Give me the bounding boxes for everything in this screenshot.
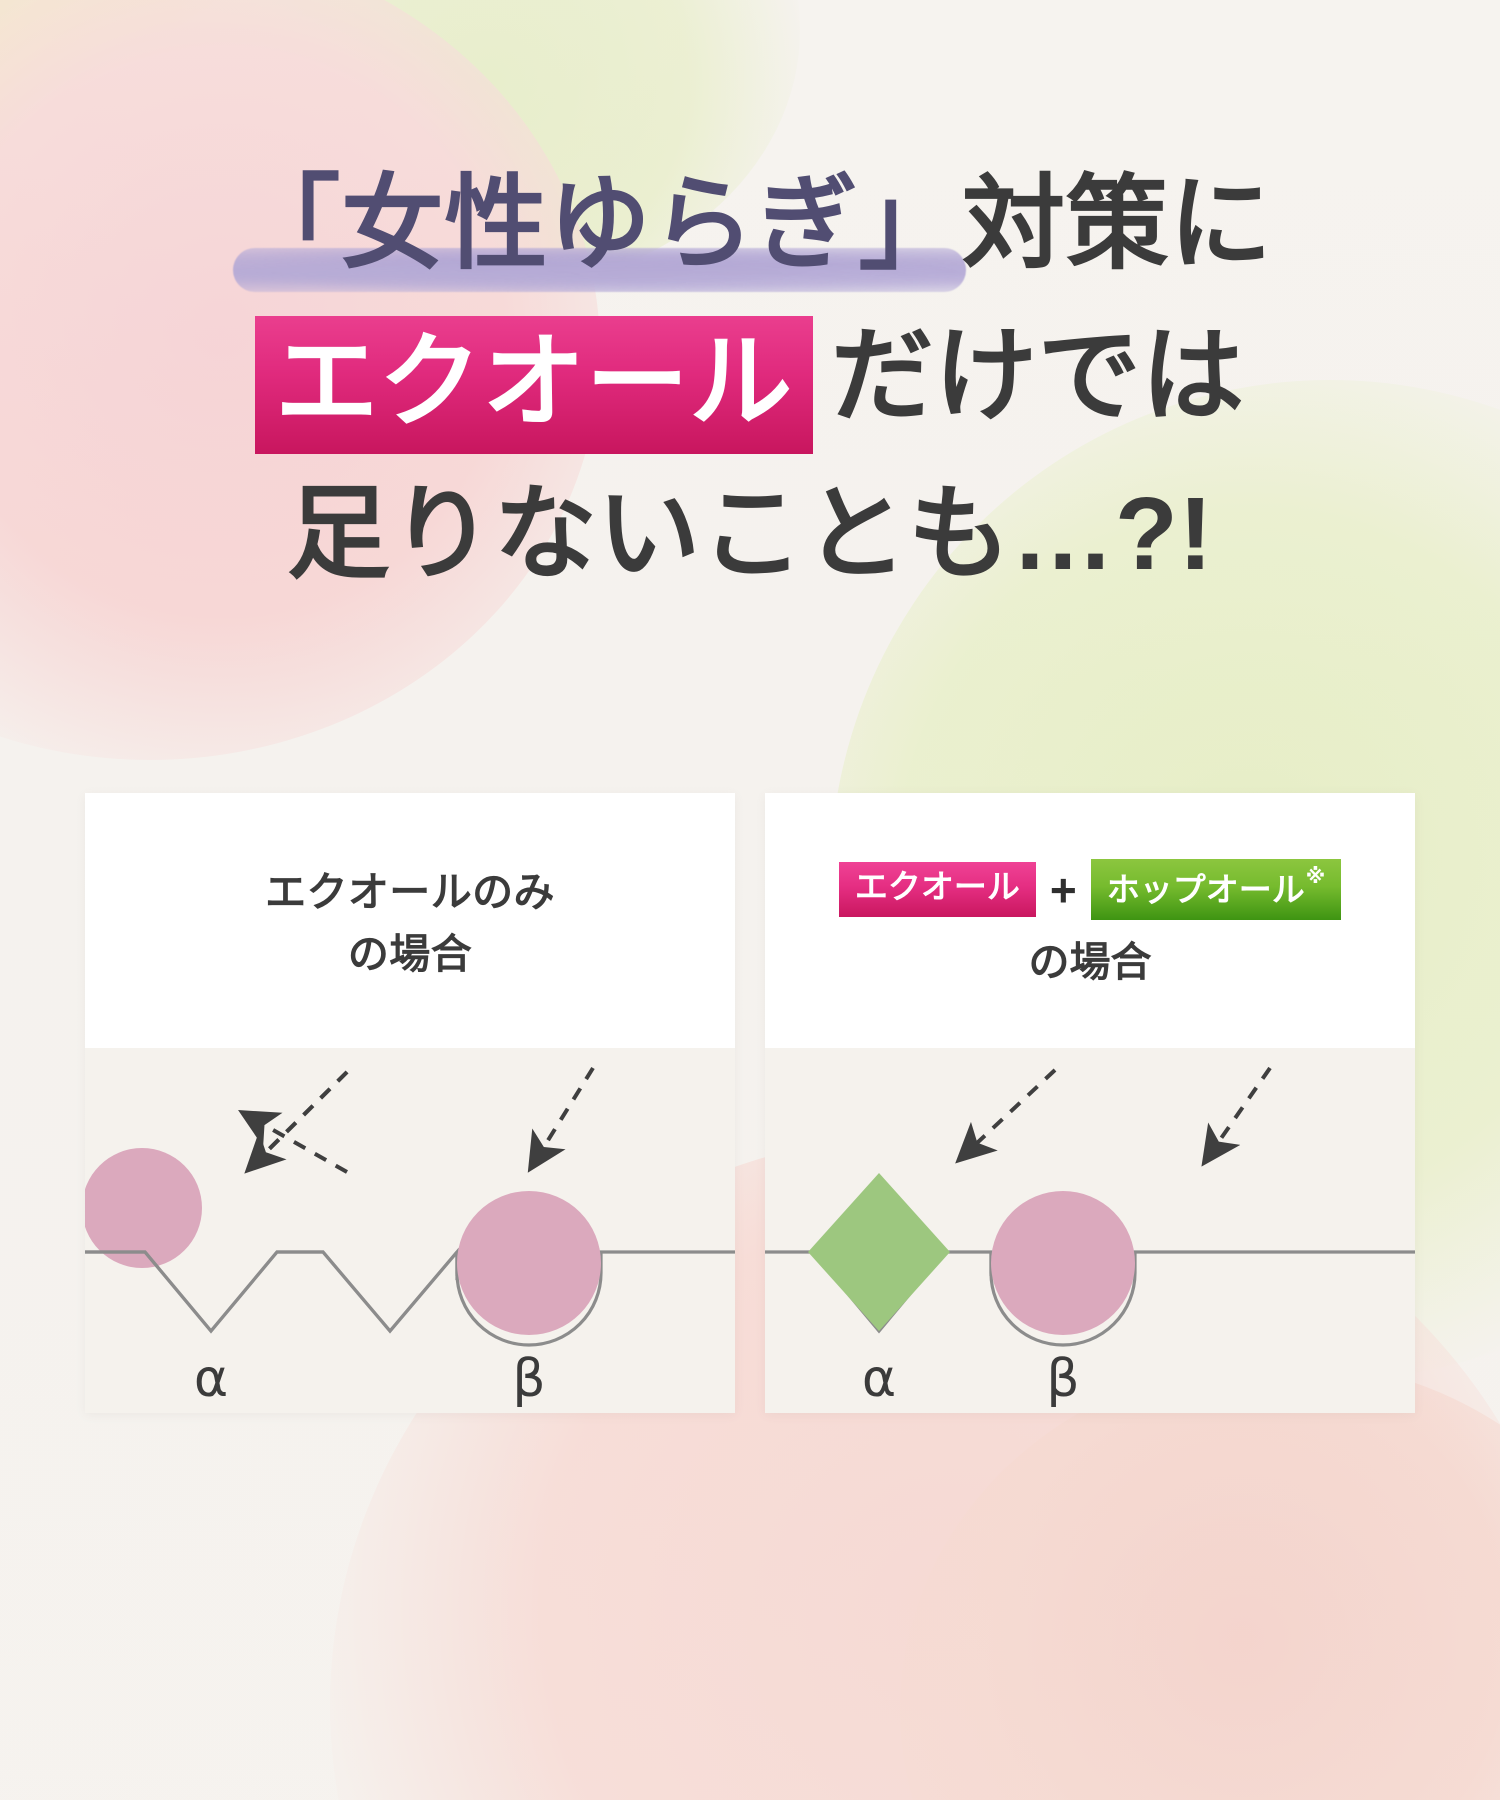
badge-hopall-label: ホップオール xyxy=(1107,871,1305,908)
card-equol-only-title-line-1: エクオールのみ xyxy=(265,862,555,924)
badge-plus-separator: + xyxy=(1050,867,1077,913)
card-badge-row: エクオール + ホップオール※ xyxy=(839,859,1341,920)
arrow-to-beta-receptor-left xyxy=(532,1068,593,1166)
badge-equol: エクオール xyxy=(839,862,1036,917)
card-equol-only-header: エクオールのみ の場合 xyxy=(85,793,735,1048)
headline-line-2-rest: だけでは xyxy=(831,318,1245,433)
receptor-label-alpha-right: α xyxy=(862,1349,896,1409)
receptor-label-beta-left: β xyxy=(512,1349,545,1409)
equol-badge-headline: エクオール xyxy=(255,316,813,453)
arrow-bend-to-free-molecule-left xyxy=(245,1114,347,1172)
badge-hopall-reference-mark: ※ xyxy=(1306,866,1325,888)
receptor-label-beta-right: β xyxy=(1046,1349,1079,1409)
receptor-diagram-left: α β xyxy=(85,1048,735,1413)
receptor-label-alpha-left: α xyxy=(194,1349,228,1409)
arrow-to-alpha-receptor-right xyxy=(961,1070,1055,1158)
badge-hopall: ホップオール※ xyxy=(1091,859,1341,920)
headline-line-3: 足りないことも…?! xyxy=(0,460,1500,608)
headline-line-1: 「女性ゆらぎ」 対策に xyxy=(0,150,1500,298)
receptor-diagram-right: α β xyxy=(765,1048,1415,1413)
arrow-line-free-molecule-left xyxy=(250,1072,347,1168)
comparison-cards: エクオールのみ の場合 xyxy=(0,793,1500,1413)
hopall-in-alpha-receptor xyxy=(808,1173,950,1331)
headline-quoted-phrase: 「女性ゆらぎ」 xyxy=(237,150,962,298)
card-equol-only: エクオールのみ の場合 xyxy=(85,793,735,1413)
card-equol-plus-hopall: エクオール + ホップオール※ の場合 xyxy=(765,793,1415,1413)
arrow-to-beta-receptor-right xyxy=(1206,1068,1270,1160)
card-equol-plus-hopall-subtitle: の場合 xyxy=(1029,938,1152,987)
headline-line-1-rest: 対策に xyxy=(962,166,1273,281)
equol-in-beta-receptor-right xyxy=(991,1191,1135,1335)
card-equol-only-figure: α β xyxy=(85,1048,735,1413)
card-equol-only-title-line-2: の場合 xyxy=(348,924,472,986)
card-equol-plus-hopall-figure: α β xyxy=(765,1048,1415,1413)
free-equol-molecule-left xyxy=(85,1148,202,1268)
card-equol-plus-hopall-header: エクオール + ホップオール※ の場合 xyxy=(765,793,1415,1048)
headline-line-2: エクオールだけでは xyxy=(0,302,1500,453)
headline-quoted-text: 「女性ゆらぎ」 xyxy=(237,166,962,281)
page-root: 「女性ゆらぎ」 対策に エクオールだけでは 足りないことも…?! エクオールのみ… xyxy=(0,0,1500,1800)
equol-in-beta-receptor-left xyxy=(457,1191,601,1335)
arrow-to-free-molecule-left xyxy=(250,1072,347,1168)
headline-block: 「女性ゆらぎ」 対策に エクオールだけでは 足りないことも…?! xyxy=(0,150,1500,608)
